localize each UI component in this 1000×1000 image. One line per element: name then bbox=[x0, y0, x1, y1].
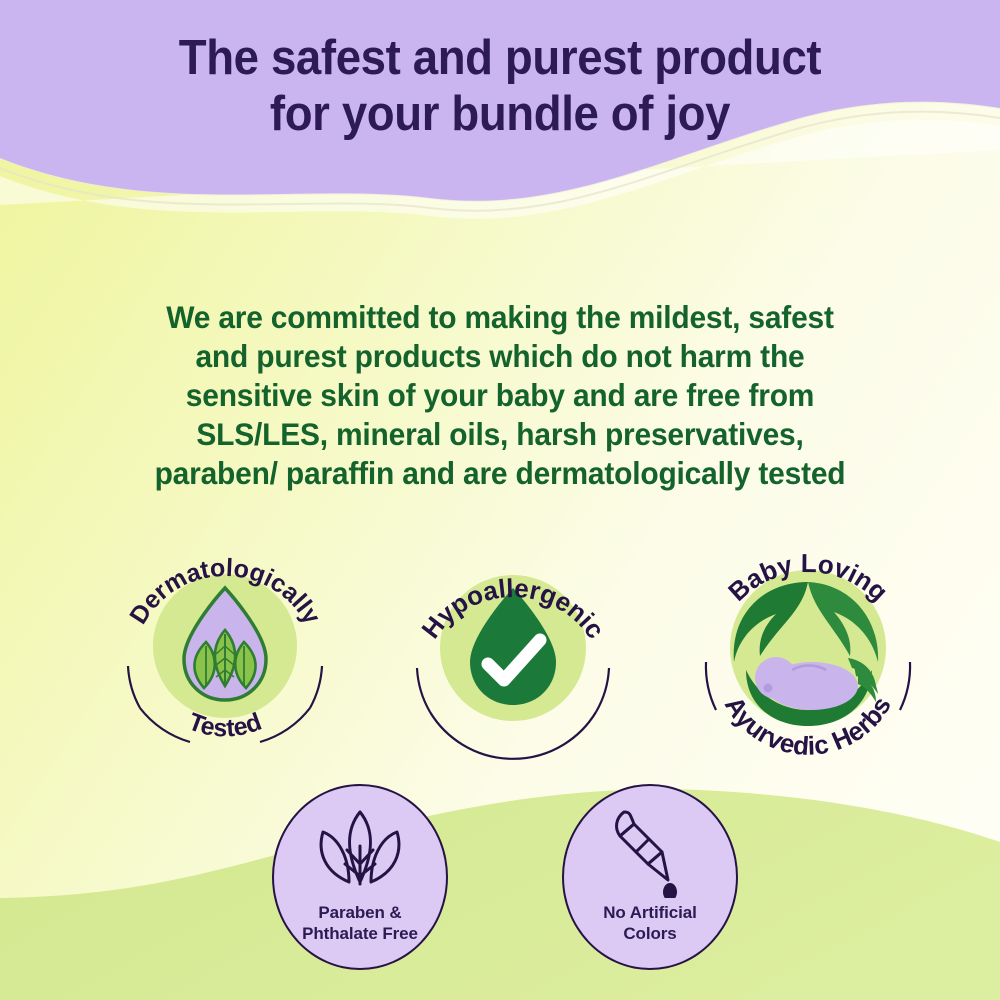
badge-dermatologically-tested[interactable]: Dermatologically Tested bbox=[100, 520, 350, 770]
badge-outer-arc-lower-right bbox=[260, 708, 310, 742]
badge-outer-arc-left bbox=[706, 662, 716, 710]
badge-baby-loving-ayurvedic-herbs[interactable]: Baby Loving Ayurvedic Herbs bbox=[680, 520, 935, 775]
badge-label: Paraben & Phthalate Free bbox=[272, 902, 448, 944]
badge-outer-arc-left bbox=[417, 668, 430, 712]
body-line-4: SLS/LES, mineral oils, harsh preservativ… bbox=[25, 415, 975, 454]
body-line-5: paraben/ paraffin and are dermatological… bbox=[25, 454, 975, 493]
body-line-3: sensitive skin of your baby and are free… bbox=[25, 376, 975, 415]
promo-poster: The safest and purest product for your b… bbox=[0, 0, 1000, 1000]
badge-label-line-2: Colors bbox=[562, 923, 738, 944]
dropper-drop bbox=[663, 883, 677, 898]
certification-badges-row-bottom: Paraben & Phthalate Free bbox=[0, 784, 1000, 974]
badge-label-line-1: No Artificial bbox=[603, 903, 696, 922]
lotus-leaves-icon bbox=[301, 806, 419, 892]
title-line-2: for your bundle of joy bbox=[35, 86, 965, 142]
badge-outer-arc-left bbox=[128, 666, 140, 708]
badge-label-line-1: Paraben & bbox=[318, 903, 401, 922]
body-line-2: and purest products which do not harm th… bbox=[25, 337, 975, 376]
badge-paraben-phthalate-free[interactable]: Paraben & Phthalate Free bbox=[272, 784, 448, 970]
body-line-1: We are committed to making the mildest, … bbox=[25, 298, 975, 337]
badge-outer-arc-right bbox=[900, 662, 910, 710]
badge-hypoallergenic[interactable]: Hypoallergenic bbox=[388, 520, 638, 770]
badge-no-artificial-colors[interactable]: No Artificial Colors bbox=[562, 784, 738, 970]
badge-outer-arc-right bbox=[596, 668, 609, 712]
body-paragraph: We are committed to making the mildest, … bbox=[0, 298, 1000, 493]
dropper-pipette-icon bbox=[600, 806, 700, 898]
badge-label-line-2: Phthalate Free bbox=[272, 923, 448, 944]
badge-outer-arc-lower-left bbox=[140, 708, 190, 742]
badge-outer-arc-right bbox=[310, 666, 322, 708]
certification-badges-row-top: Dermatologically Tested bbox=[0, 520, 1000, 780]
badge-label: No Artificial Colors bbox=[562, 902, 738, 944]
page-title: The safest and purest product for your b… bbox=[0, 30, 1000, 142]
title-line-1: The safest and purest product bbox=[35, 30, 965, 86]
